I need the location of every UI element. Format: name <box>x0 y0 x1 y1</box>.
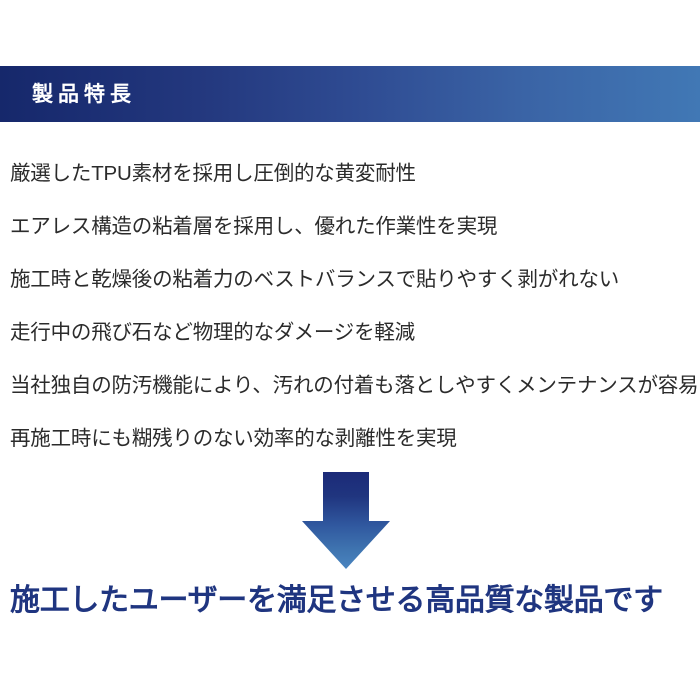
feature-item-3: 施工時と乾燥後の粘着力のベストバランスで貼りやすく剥がれない <box>10 254 700 307</box>
feature-item-1: 厳選したTPU素材を採用し圧倒的な黄変耐性 <box>10 148 700 201</box>
conclusion-headline: 施工したユーザーを満足させる高品質な製品です <box>10 583 700 619</box>
arrow-down-icon <box>302 472 390 569</box>
section-header-banner: 製品特長 <box>0 66 700 122</box>
feature-item-4: 走行中の飛び石など物理的なダメージを軽減 <box>10 307 700 360</box>
feature-item-6: 再施工時にも糊残りのない効率的な剥離性を実現 <box>10 413 700 466</box>
feature-item-5: 当社独自の防汚機能により、汚れの付着も落としやすくメンテナンスが容易 <box>10 360 700 413</box>
section-header-title: 製品特長 <box>32 84 136 105</box>
feature-item-2: エアレス構造の粘着層を採用し、優れた作業性を実現 <box>10 201 700 254</box>
feature-list: 厳選したTPU素材を採用し圧倒的な黄変耐性 エアレス構造の粘着層を採用し、優れた… <box>10 148 700 466</box>
product-features-page: 製品特長 厳選したTPU素材を採用し圧倒的な黄変耐性 エアレス構造の粘着層を採用… <box>0 0 700 700</box>
